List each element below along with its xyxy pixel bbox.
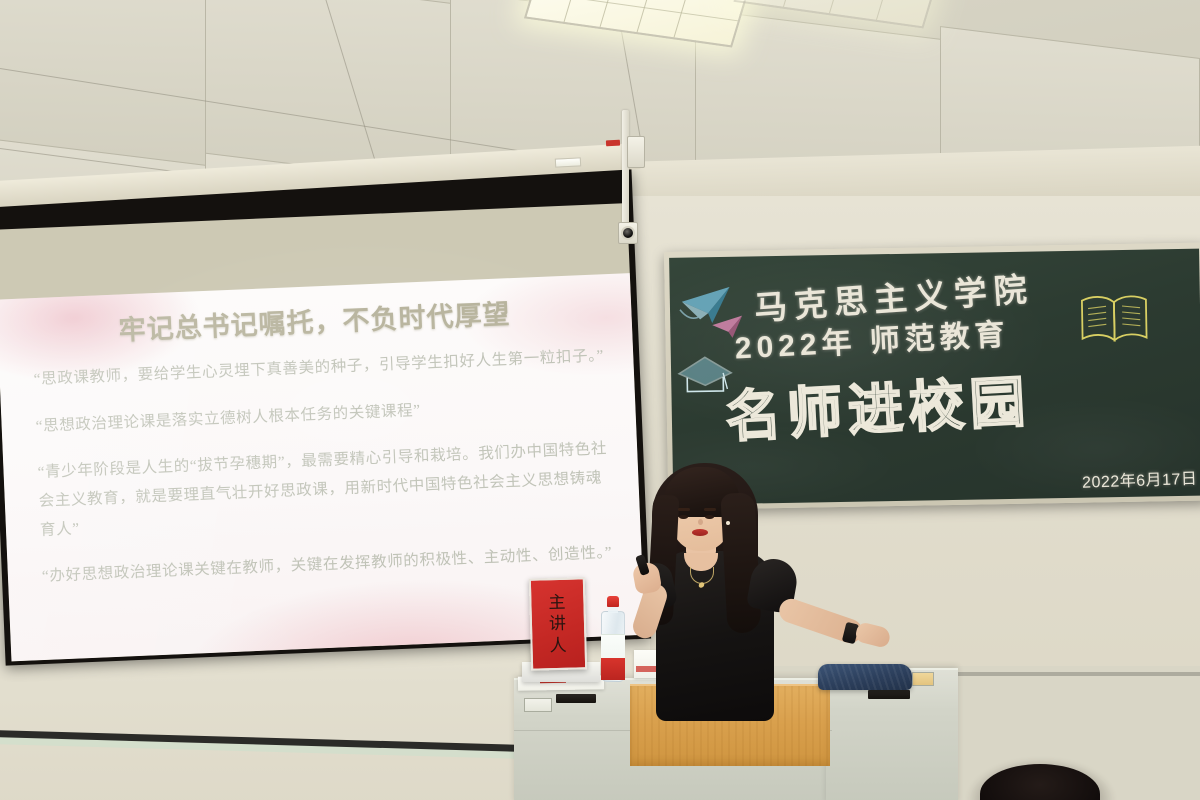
slide-paragraph-3: “青少年阶段是人生的“拔节孕穗期”，最需要精心引导和栽培。我们办中国特色社会主义… [37, 435, 614, 545]
speaker-eye-right [705, 515, 714, 519]
speaker-lips [692, 529, 708, 536]
classroom-scene: 牢记总书记嘱托，不负时代厚望 “思政课教师，要给学生心灵埋下真善美的种子，引导学… [0, 0, 1200, 800]
speaker-hand-right [854, 621, 892, 649]
warning-sticker [606, 140, 620, 147]
speaker-brow-left [678, 508, 690, 511]
open-book-icon [1076, 289, 1153, 350]
speaker-placard: 主 讲 人 [529, 577, 587, 670]
slide-paragraph-2: “思想政治理论课是落实立德树人根本任务的关键课程” [35, 389, 610, 442]
placard-char-1: 主 [548, 592, 567, 614]
slide-paragraph-1: “思政课教师，要给学生心灵埋下真善美的种子，引导学生扣好人生第一粒扣子。” [33, 342, 608, 395]
folded-blue-cloth[interactable] [818, 664, 912, 690]
slide-body: “思政课教师，要给学生心灵埋下真善美的种子，引导学生扣好人生第一粒扣子。” “思… [33, 342, 617, 610]
console-dark-plate [556, 694, 596, 703]
speaker-hair-right [720, 492, 761, 634]
camera-mount-pole [622, 110, 629, 240]
placard-char-3: 人 [549, 634, 568, 656]
console-label-plate [524, 698, 552, 712]
ceiling-notice-sign [555, 157, 581, 167]
placard-char-2: 讲 [549, 613, 568, 635]
speaker-brow-right [704, 508, 716, 511]
speaker-nose [698, 519, 703, 525]
camera-junction-box [627, 136, 645, 168]
slide-title: 牢记总书记嘱托，不负时代厚望 [0, 287, 632, 353]
speaker-eye-left [679, 515, 688, 519]
speaker-earring [726, 521, 730, 525]
wall-trim-line-right [950, 672, 1200, 676]
wall-camera-lens [621, 226, 635, 240]
blackboard-line-3: 名师进校园 [724, 356, 1033, 452]
blackboard-date: 2022年6月17日 [1081, 465, 1197, 493]
